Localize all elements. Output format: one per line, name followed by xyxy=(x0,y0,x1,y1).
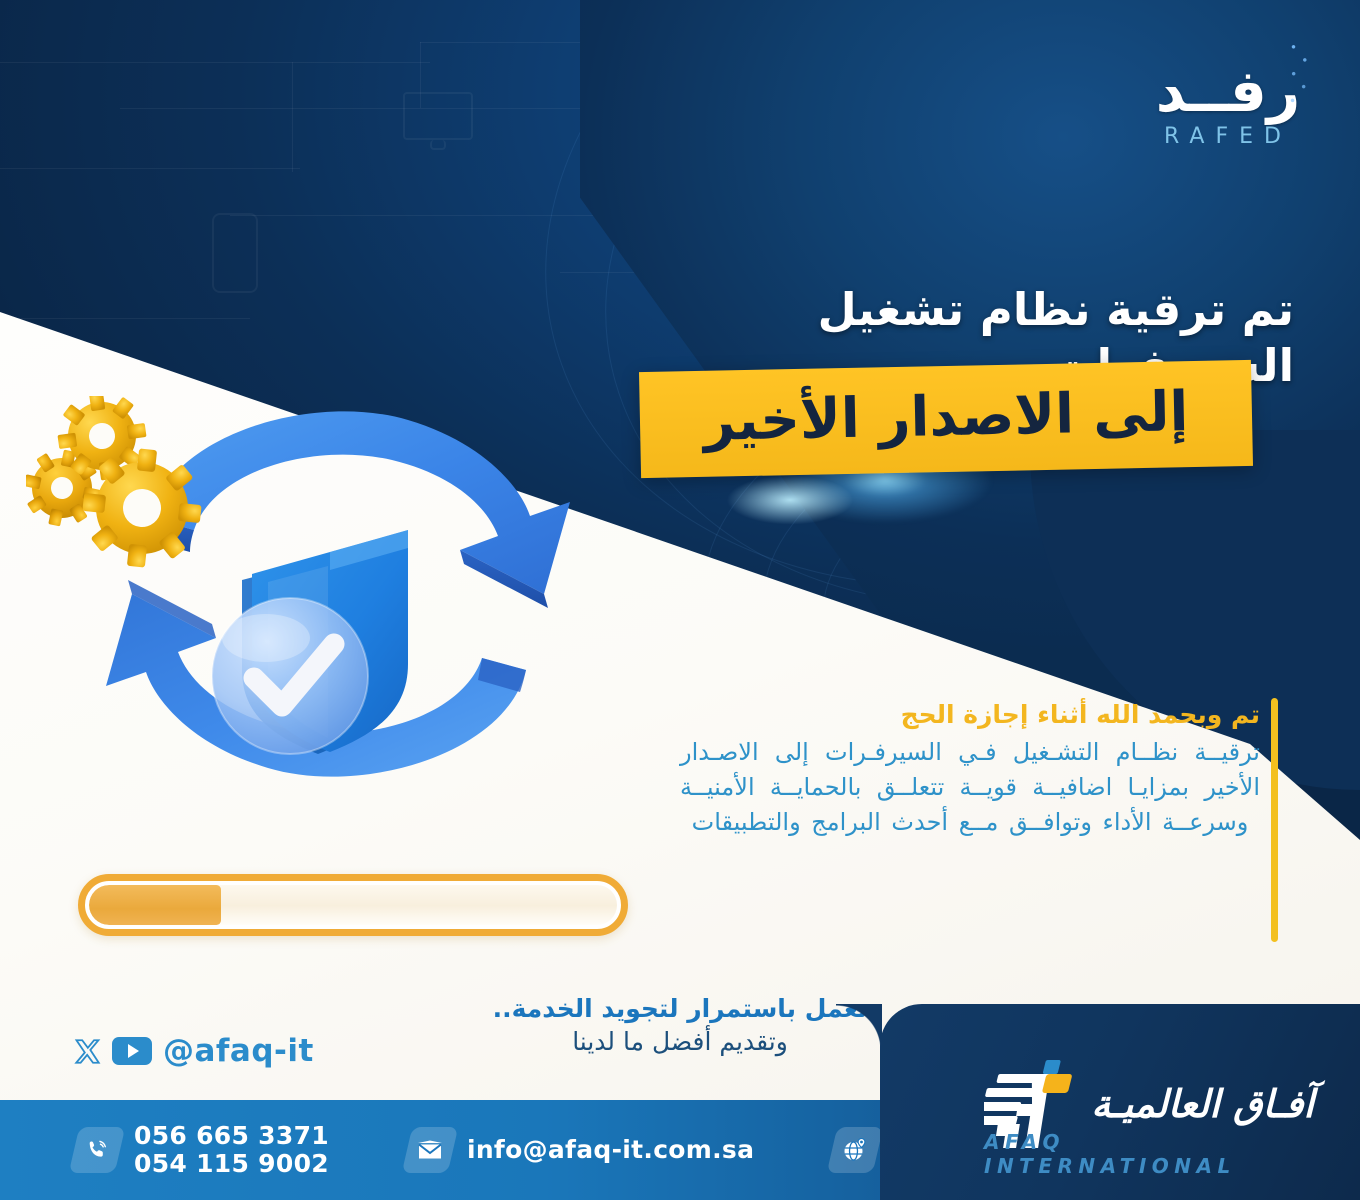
headline-highlight-box: إلى الاصدار الأخير xyxy=(639,360,1253,478)
phone-number-2: 054 115 9002 xyxy=(134,1150,329,1178)
contact-phone[interactable]: 056 665 3371 054 115 9002 xyxy=(74,1122,329,1178)
social-links[interactable]: @afaq-it xyxy=(74,1033,314,1069)
body-text-block: تم وبحمد الله أثناء إجازة الحج ترقيــة ن… xyxy=(680,700,1260,839)
update-cycle-graphic xyxy=(78,398,598,798)
rafed-logo: رفــد RAFED xyxy=(1128,62,1328,182)
afaq-name-latin: AFAQ INTERNATIONAL xyxy=(984,1130,1312,1178)
progress-fill xyxy=(89,885,221,925)
body-paragraph: ترقيــة نظــام التشـغيل فـي السيرفـرات إ… xyxy=(680,735,1260,839)
afaq-name-arabic: آفـاق العالميـة xyxy=(1091,1082,1314,1126)
phone-icon xyxy=(69,1127,126,1173)
email-address[interactable]: info@afaq-it.com.sa xyxy=(467,1136,754,1164)
contact-email[interactable]: info@afaq-it.com.sa xyxy=(407,1127,754,1173)
body-divider-rule xyxy=(1271,698,1278,942)
poster-canvas: رفــد RAFED تم ترقية نظام تشغيل السيرفرا… xyxy=(0,0,1360,1200)
phone-number-1: 056 665 3371 xyxy=(134,1121,329,1150)
gears-icon xyxy=(26,396,216,576)
headline-highlight-text: إلى الاصدار الأخير xyxy=(703,384,1189,455)
monitor-stand-icon xyxy=(430,140,446,150)
upgrade-progress-bar[interactable] xyxy=(78,874,628,936)
monitor-icon xyxy=(403,92,473,140)
rafed-logo-latin: RAFED xyxy=(1128,124,1328,149)
globe-pin-icon xyxy=(827,1127,884,1173)
afaq-logo: آفـاق العالميـة AFAQ INTERNATIONAL xyxy=(984,1056,1314,1166)
envelope-icon xyxy=(402,1127,459,1173)
social-handle[interactable]: @afaq-it xyxy=(163,1033,314,1069)
phone-glyph-icon xyxy=(85,1138,109,1162)
play-triangle-icon xyxy=(128,1044,139,1058)
globe-pin-glyph-icon xyxy=(842,1137,868,1163)
progress-track xyxy=(89,885,617,925)
phone-outline-icon xyxy=(212,213,258,293)
phone-numbers: 056 665 3371 054 115 9002 xyxy=(134,1122,329,1178)
body-heading: تم وبحمد الله أثناء إجازة الحج xyxy=(680,700,1260,729)
x-twitter-icon[interactable] xyxy=(74,1038,101,1065)
envelope-glyph-icon xyxy=(417,1139,443,1161)
youtube-icon[interactable] xyxy=(112,1037,152,1065)
